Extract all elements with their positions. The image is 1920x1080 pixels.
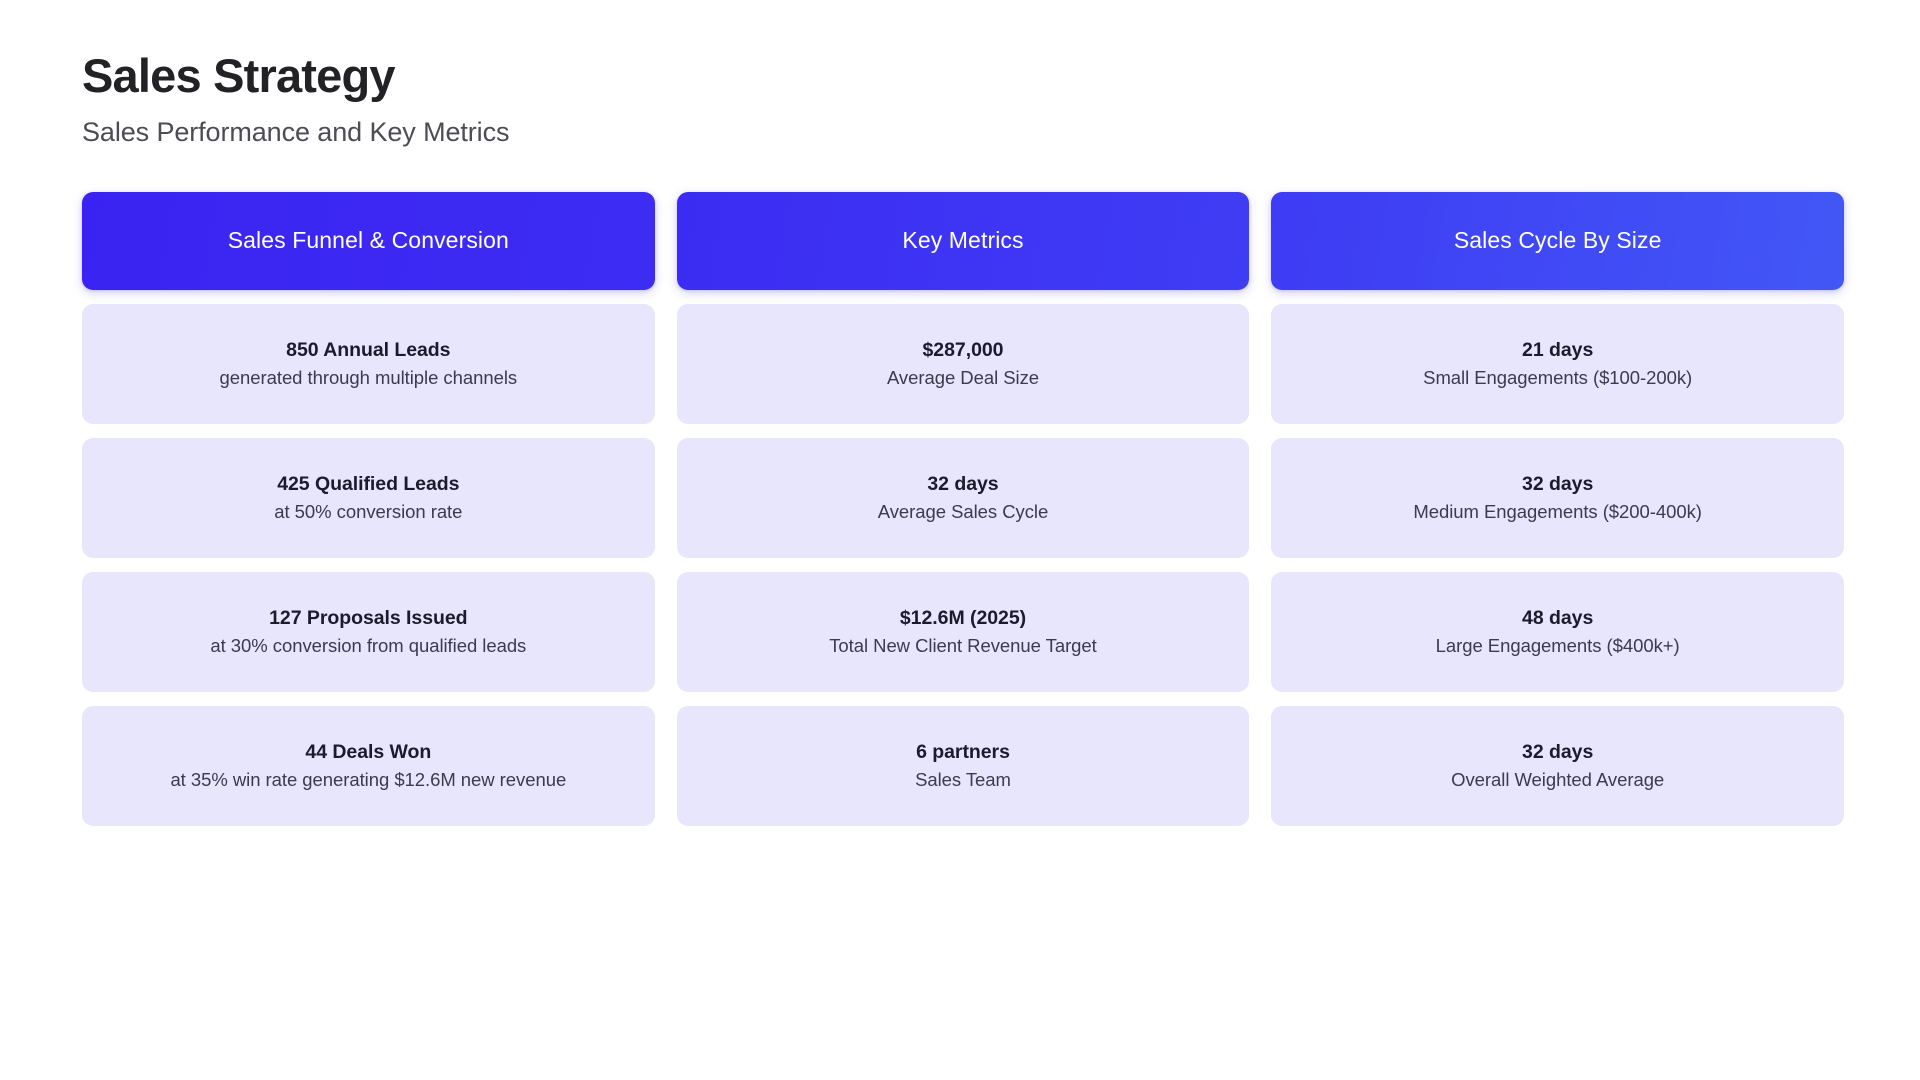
metric-card[interactable]: $287,000 Average Deal Size bbox=[677, 304, 1250, 424]
metric-card[interactable]: 6 partners Sales Team bbox=[677, 706, 1250, 826]
metric-value: 48 days bbox=[1522, 605, 1593, 631]
metric-value: 425 Qualified Leads bbox=[277, 471, 459, 497]
metric-value: 127 Proposals Issued bbox=[269, 605, 467, 631]
metric-value: 32 days bbox=[927, 471, 998, 497]
metric-label: Medium Engagements ($200-400k) bbox=[1413, 500, 1702, 525]
metric-value: 21 days bbox=[1522, 337, 1593, 363]
column-key-metrics: Key Metrics $287,000 Average Deal Size 3… bbox=[677, 192, 1250, 826]
metric-value: 32 days bbox=[1522, 471, 1593, 497]
metric-card[interactable]: 21 days Small Engagements ($100-200k) bbox=[1271, 304, 1844, 424]
metric-value: 6 partners bbox=[916, 739, 1010, 765]
metric-label: at 30% conversion from qualified leads bbox=[210, 634, 526, 659]
metric-label: Average Sales Cycle bbox=[878, 500, 1048, 525]
metric-card[interactable]: 48 days Large Engagements ($400k+) bbox=[1271, 572, 1844, 692]
metric-label: Total New Client Revenue Target bbox=[829, 634, 1097, 659]
metric-value: $12.6M (2025) bbox=[900, 605, 1026, 631]
metric-label: at 50% conversion rate bbox=[274, 500, 462, 525]
metric-value: 32 days bbox=[1522, 739, 1593, 765]
metric-card[interactable]: 127 Proposals Issued at 30% conversion f… bbox=[82, 572, 655, 692]
metric-label: generated through multiple channels bbox=[220, 366, 518, 391]
metric-card[interactable]: 44 Deals Won at 35% win rate generating … bbox=[82, 706, 655, 826]
metrics-matrix: Sales Funnel & Conversion 850 Annual Lea… bbox=[82, 192, 1844, 826]
column-sales-funnel-conversion: Sales Funnel & Conversion 850 Annual Lea… bbox=[82, 192, 655, 826]
metric-label: at 35% win rate generating $12.6M new re… bbox=[170, 768, 566, 793]
column-header-key-metrics[interactable]: Key Metrics bbox=[677, 192, 1250, 290]
page-header: Sales Strategy Sales Performance and Key… bbox=[82, 50, 1838, 150]
column-sales-cycle-by-size: Sales Cycle By Size 21 days Small Engage… bbox=[1271, 192, 1844, 826]
metric-card[interactable]: 32 days Overall Weighted Average bbox=[1271, 706, 1844, 826]
metric-card[interactable]: 425 Qualified Leads at 50% conversion ra… bbox=[82, 438, 655, 558]
metric-card[interactable]: 32 days Medium Engagements ($200-400k) bbox=[1271, 438, 1844, 558]
metric-card[interactable]: 850 Annual Leads generated through multi… bbox=[82, 304, 655, 424]
metric-value: $287,000 bbox=[923, 337, 1004, 363]
metric-card[interactable]: 32 days Average Sales Cycle bbox=[677, 438, 1250, 558]
slide-root: Sales Strategy Sales Performance and Key… bbox=[0, 0, 1920, 1080]
metric-label: Small Engagements ($100-200k) bbox=[1423, 366, 1692, 391]
metric-label: Average Deal Size bbox=[887, 366, 1039, 391]
page-title: Sales Strategy bbox=[82, 50, 1838, 103]
metric-value: 44 Deals Won bbox=[305, 739, 431, 765]
page-subtitle: Sales Performance and Key Metrics bbox=[82, 115, 1838, 150]
column-header-sales-cycle-by-size[interactable]: Sales Cycle By Size bbox=[1271, 192, 1844, 290]
metric-card[interactable]: $12.6M (2025) Total New Client Revenue T… bbox=[677, 572, 1250, 692]
metric-label: Large Engagements ($400k+) bbox=[1436, 634, 1680, 659]
metric-label: Overall Weighted Average bbox=[1451, 768, 1664, 793]
metric-label: Sales Team bbox=[915, 768, 1011, 793]
column-header-sales-funnel-conversion[interactable]: Sales Funnel & Conversion bbox=[82, 192, 655, 290]
metric-value: 850 Annual Leads bbox=[286, 337, 450, 363]
